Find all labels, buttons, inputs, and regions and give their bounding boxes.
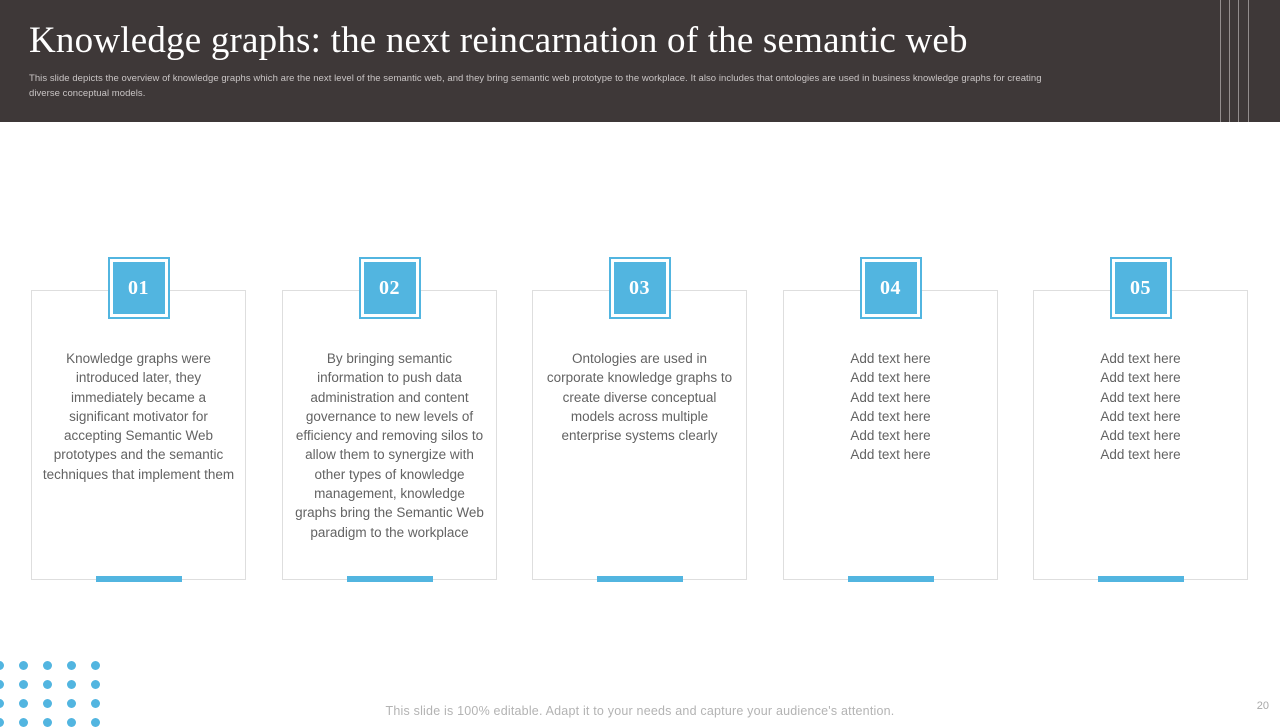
card-text-line: Add text here: [793, 388, 988, 407]
card-accent-02: [347, 576, 433, 582]
card-text-01: Knowledge graphs were introduced later, …: [41, 349, 236, 484]
card-text-03: Ontologies are used in corporate knowled…: [542, 349, 737, 445]
dot: [0, 718, 4, 727]
dot: [67, 661, 76, 670]
card-text-line: Add text here: [1043, 426, 1238, 445]
card-badge-03: 03: [609, 257, 671, 319]
dot: [0, 661, 4, 670]
card-03[interactable]: 03 Ontologies are used in corporate know…: [532, 290, 747, 580]
card-text-line: Add text here: [1043, 388, 1238, 407]
dot: [91, 680, 100, 689]
card-text-line: Add text here: [793, 426, 988, 445]
slide-header: Knowledge graphs: the next reincarnation…: [0, 0, 1280, 122]
page-number: 20: [1257, 700, 1269, 712]
header-line-1: [1220, 0, 1221, 122]
card-number-04: 04: [865, 262, 917, 314]
card-04[interactable]: 04 Add text here Add text here Add text …: [783, 290, 998, 580]
card-text-line: Add text here: [793, 349, 988, 368]
card-accent-01: [96, 576, 182, 582]
header-line-3: [1238, 0, 1239, 122]
card-text-line: Add text here: [1043, 349, 1238, 368]
page-title: Knowledge graphs: the next reincarnation…: [29, 18, 968, 64]
header-line-4: [1248, 0, 1249, 122]
card-text-line: Add text here: [793, 407, 988, 426]
card-accent-03: [597, 576, 683, 582]
footer-note: This slide is 100% editable. Adapt it to…: [0, 704, 1280, 718]
dot: [91, 718, 100, 727]
card-number-02: 02: [364, 262, 416, 314]
card-badge-02: 02: [359, 257, 421, 319]
card-text-line: Add text here: [1043, 368, 1238, 387]
dot: [43, 661, 52, 670]
dot: [91, 661, 100, 670]
card-text-line: Add text here: [1043, 407, 1238, 426]
dot: [67, 718, 76, 727]
dot: [19, 680, 28, 689]
card-01[interactable]: 01 Knowledge graphs were introduced late…: [31, 290, 246, 580]
card-badge-01: 01: [108, 257, 170, 319]
card-number-01: 01: [113, 262, 165, 314]
header-line-2: [1229, 0, 1230, 122]
dot: [67, 680, 76, 689]
card-badge-05: 05: [1110, 257, 1172, 319]
card-text-04: Add text here Add text here Add text her…: [793, 349, 988, 465]
dot: [43, 718, 52, 727]
dot: [43, 680, 52, 689]
slide-subtitle: This slide depicts the overview of knowl…: [29, 72, 1044, 101]
card-text-line: Add text here: [1043, 445, 1238, 464]
cards-container: 01 Knowledge graphs were introduced late…: [31, 290, 1249, 582]
card-accent-05: [1098, 576, 1184, 582]
card-number-05: 05: [1115, 262, 1167, 314]
dot: [19, 718, 28, 727]
card-text-line: Add text here: [793, 368, 988, 387]
card-text-line: Add text here: [793, 445, 988, 464]
card-05[interactable]: 05 Add text here Add text here Add text …: [1033, 290, 1248, 580]
header-decorative-lines: [1218, 0, 1258, 122]
card-02[interactable]: 02 By bringing semantic information to p…: [282, 290, 497, 580]
dot: [0, 680, 4, 689]
card-number-03: 03: [614, 262, 666, 314]
card-text-02: By bringing semantic information to push…: [292, 349, 487, 542]
dot: [19, 661, 28, 670]
card-text-05: Add text here Add text here Add text her…: [1043, 349, 1238, 465]
card-accent-04: [848, 576, 934, 582]
card-badge-04: 04: [860, 257, 922, 319]
